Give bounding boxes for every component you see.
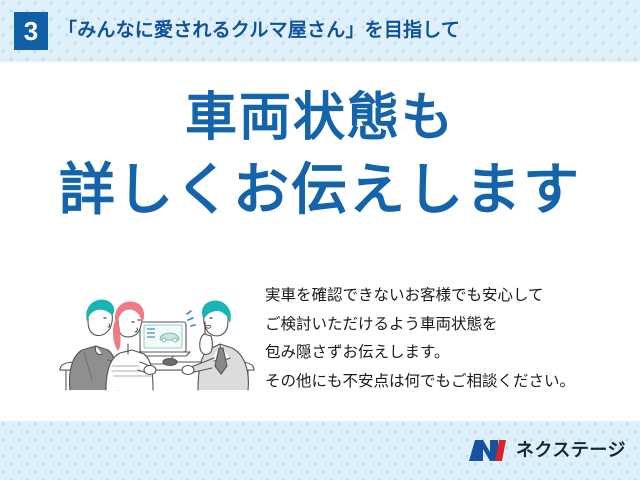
header-band: 3 「みんなに愛されるクルマ屋さん」を目指して bbox=[0, 0, 640, 62]
headline-line-1: 車両状態も bbox=[0, 92, 640, 144]
description-paragraph: 実車を確認できないお客様でも安心して ご検討いただけるよう車両状態を 包み隠さず… bbox=[265, 282, 625, 396]
nextage-logo: ネクステージ bbox=[468, 435, 626, 465]
paragraph-line-2: ご検討いただけるよう車両状態を bbox=[265, 311, 625, 340]
paragraph-line-4: その他にも不安点は何でもご相談ください。 bbox=[265, 368, 625, 397]
nextage-n-logo-icon bbox=[468, 437, 510, 464]
paragraph-line-3: 包み隠さずお伝えします。 bbox=[265, 339, 625, 368]
advertisement-panel: 3 「みんなに愛されるクルマ屋さん」を目指して 車両状態も 詳しくお伝えします bbox=[0, 0, 640, 480]
footer-band: ネクステージ bbox=[0, 421, 640, 480]
consultation-illustration bbox=[52, 278, 262, 398]
paragraph-line-1: 実車を確認できないお客様でも安心して bbox=[265, 282, 625, 311]
headline-block: 車両状態も 詳しくお伝えします bbox=[0, 92, 640, 218]
nextage-logo-text: ネクステージ bbox=[516, 437, 626, 464]
header-title: 「みんなに愛されるクルマ屋さん」を目指して bbox=[58, 13, 460, 49]
section-number-badge: 3 bbox=[14, 12, 48, 50]
body-row: 実車を確認できないお客様でも安心して ご検討いただけるよう車両状態を 包み隠さず… bbox=[0, 276, 640, 406]
headline-line-2: 詳しくお伝えします bbox=[0, 162, 640, 218]
